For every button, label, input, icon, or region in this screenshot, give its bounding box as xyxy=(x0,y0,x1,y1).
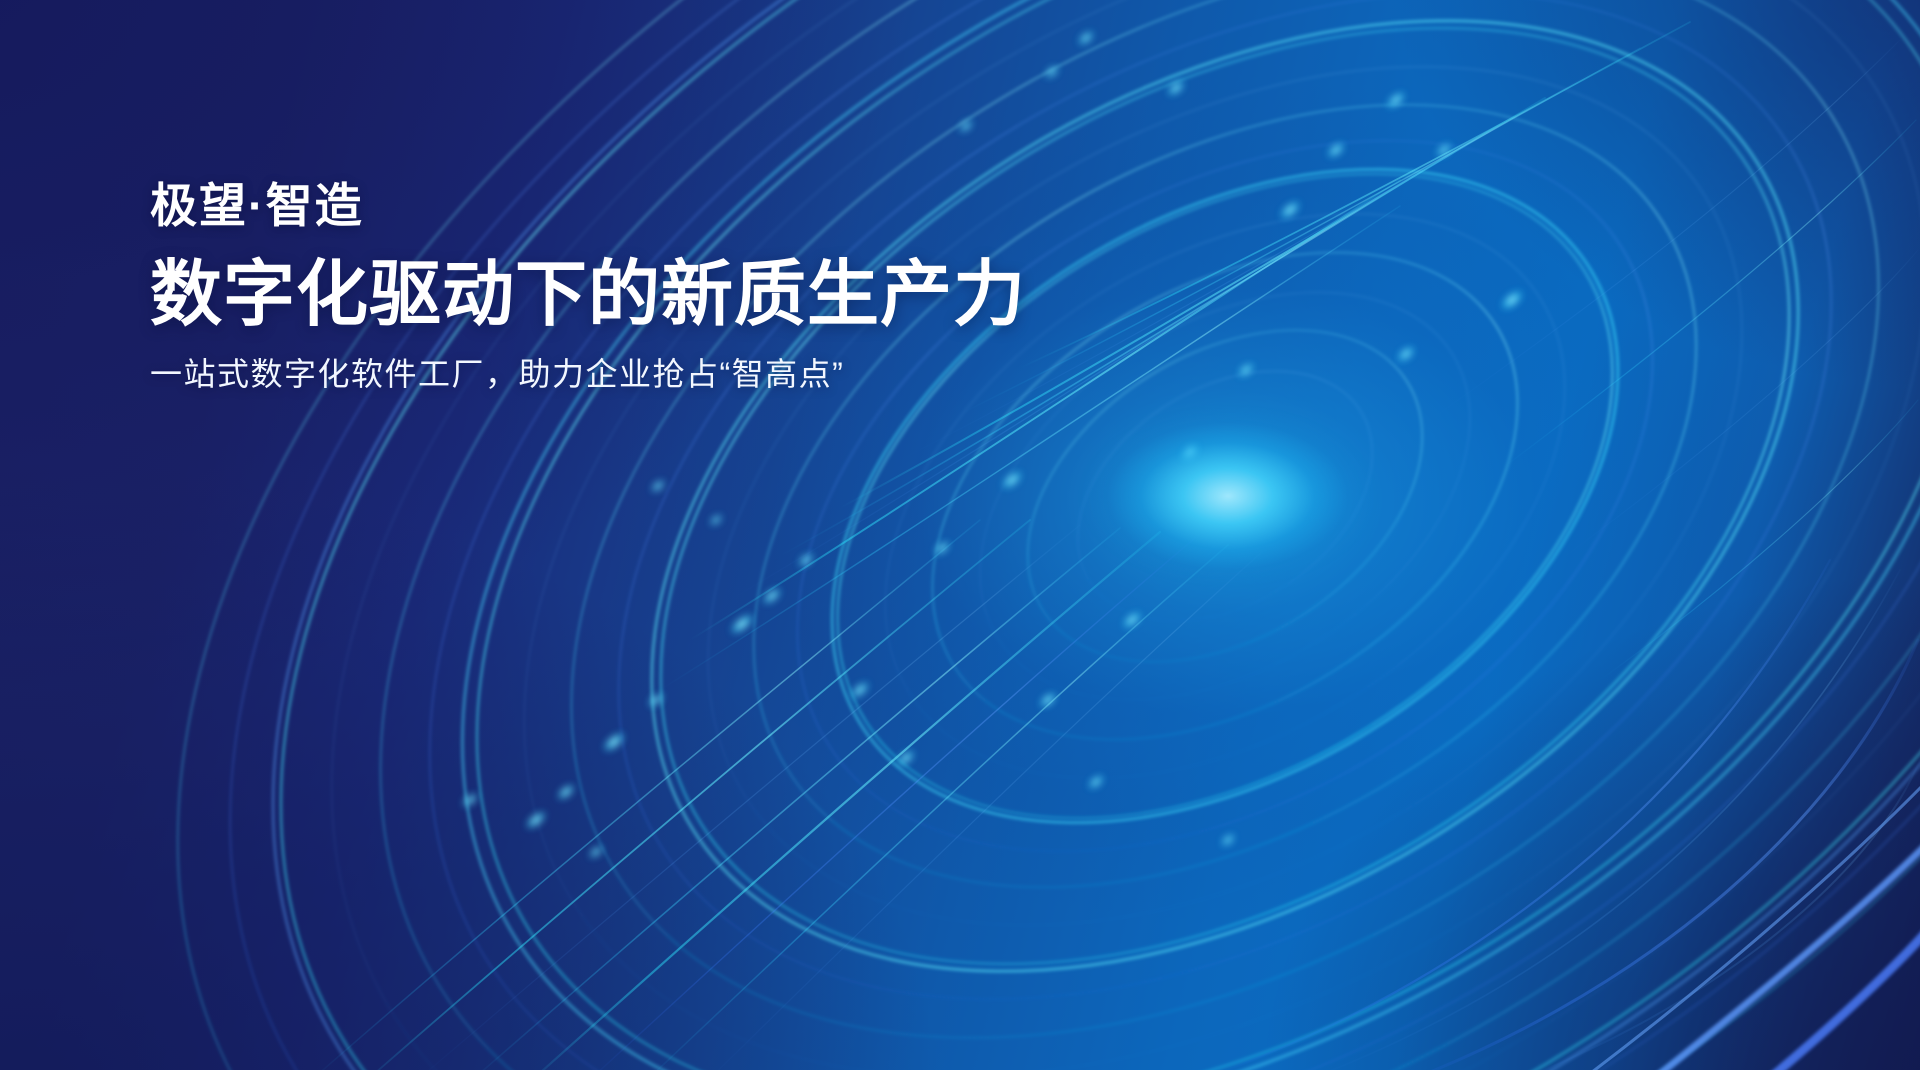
brand-eyebrow: 极望·智造 xyxy=(150,178,1170,233)
vortex-graphic xyxy=(0,0,1920,1070)
hero-copy-block: 极望·智造 数字化驱动下的新质生产力 一站式数字化软件工厂，助力企业抢占“智高点… xyxy=(150,178,1170,396)
background-wash-bottom-left xyxy=(0,0,1920,1070)
background-wash-top-left xyxy=(0,0,1920,1070)
page-title: 数字化驱动下的新质生产力 xyxy=(150,255,1170,336)
background-wash-top-right xyxy=(0,0,1920,1070)
vortex-core-glow xyxy=(0,0,1920,1070)
page-subtitle: 一站式数字化软件工厂，助力企业抢占“智高点” xyxy=(150,354,1170,396)
background-wash-bottom-right xyxy=(0,0,1920,1070)
hero-banner: 极望·智造 数字化驱动下的新质生产力 一站式数字化软件工厂，助力企业抢占“智高点… xyxy=(0,0,1920,1070)
vortex-halo-glow xyxy=(0,0,1920,1070)
